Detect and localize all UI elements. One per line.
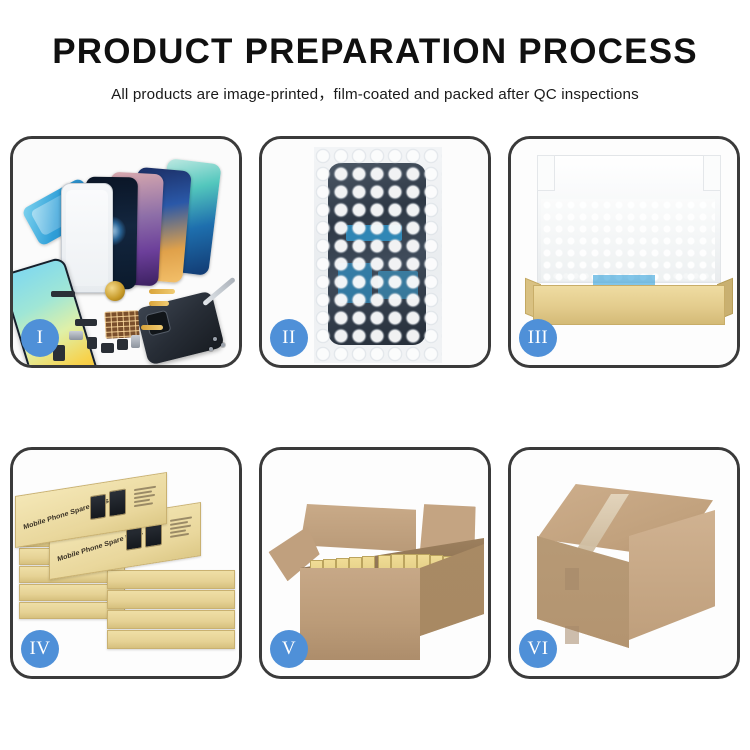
box-spec-lines <box>134 485 158 509</box>
retail-box-stack: Mobile Phone Spare Parts Mobile Phone Sp… <box>19 478 239 660</box>
process-step-3[interactable]: III <box>508 136 740 368</box>
step-badge-2: II <box>270 319 308 357</box>
page-title: PRODUCT PREPARATION PROCESS <box>0 34 750 71</box>
part-connector <box>51 291 75 297</box>
process-step-2[interactable]: II <box>259 136 491 368</box>
step-badge-3: III <box>519 319 557 357</box>
step-badge-5: V <box>270 630 308 668</box>
speaker-coil-icon <box>105 281 125 301</box>
carton-flap-back <box>300 504 416 552</box>
process-step-4[interactable]: Mobile Phone Spare Parts Mobile Phone Sp… <box>10 447 242 679</box>
step-badge-1: I <box>21 319 59 357</box>
part-module <box>75 319 97 326</box>
page-subtitle: All products are image-printed，film-coat… <box>0 82 750 104</box>
part-sensor <box>117 339 128 350</box>
step-badge-6: VI <box>519 630 557 668</box>
foam-lining <box>541 199 715 281</box>
part-vibrator <box>131 335 140 348</box>
process-step-6[interactable]: VI <box>508 447 740 679</box>
part-button <box>87 337 97 349</box>
box-spec-lines <box>170 516 194 540</box>
part-bracket <box>69 331 83 340</box>
part-flex-cable <box>149 301 169 306</box>
part-flex-cable <box>149 289 175 294</box>
part-camera <box>101 343 114 353</box>
process-step-1[interactable]: I <box>10 136 242 368</box>
step-badge-4: IV <box>21 630 59 668</box>
page-header: PRODUCT PREPARATION PROCESS All products… <box>0 0 750 104</box>
bubble-highlights <box>314 147 442 363</box>
inner-box-base <box>533 285 725 325</box>
carton-front-panel <box>300 568 420 660</box>
process-step-5[interactable]: V <box>259 447 491 679</box>
part-flex-cable <box>141 325 163 330</box>
process-step-grid: I II III <box>10 136 740 679</box>
